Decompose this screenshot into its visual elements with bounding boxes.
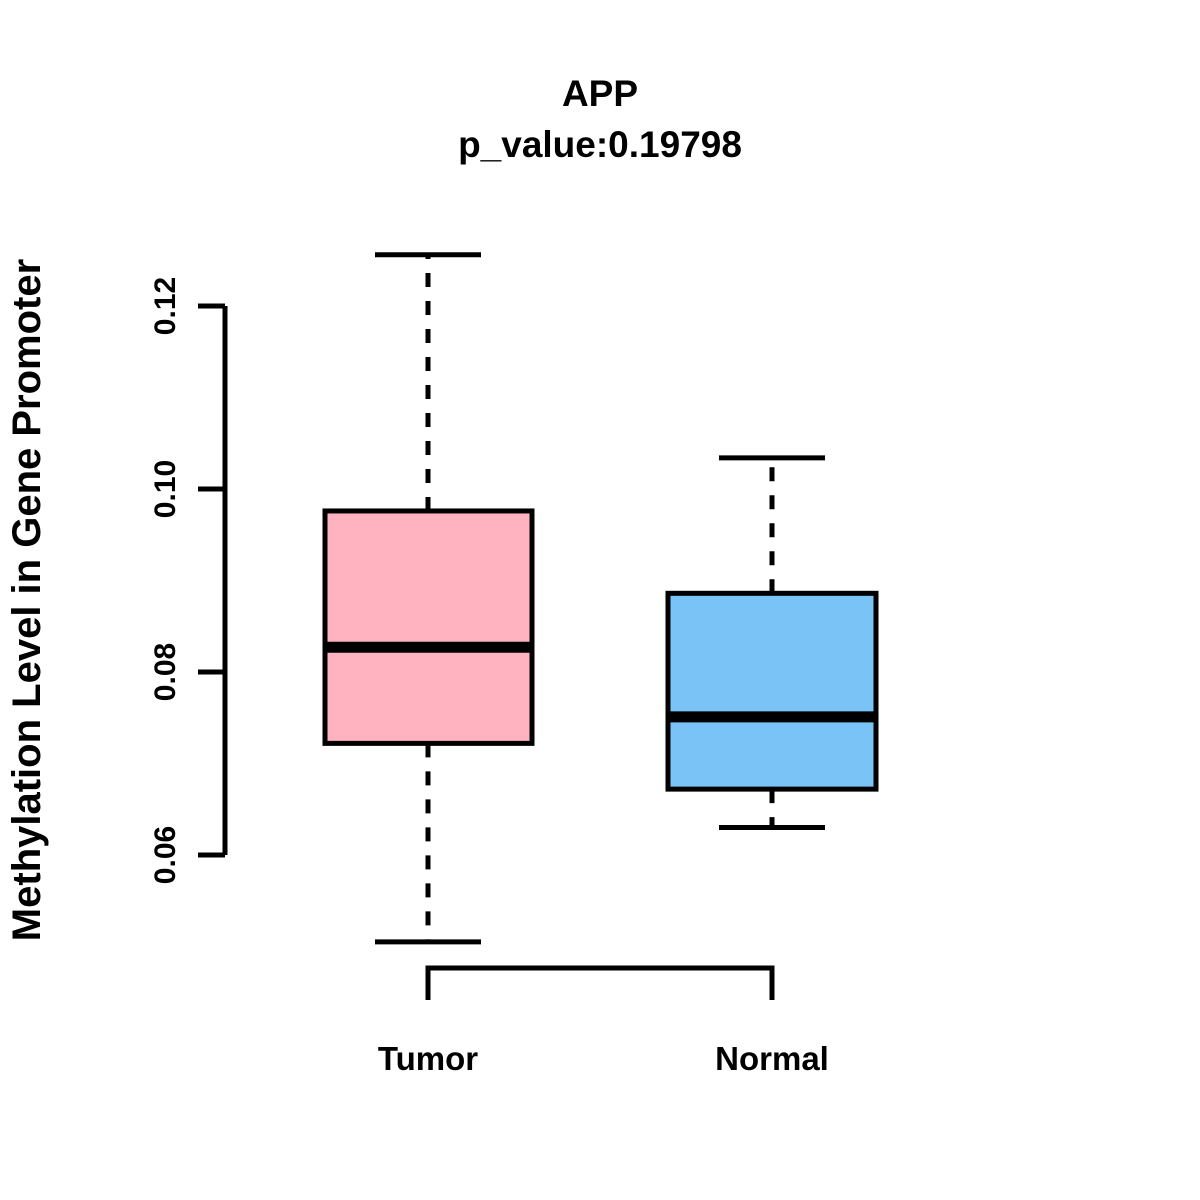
y-tick-label-0: 0.06	[149, 826, 182, 884]
x-tick-label-tumor: Tumor	[378, 1040, 478, 1077]
x-tick-label-normal: Normal	[715, 1040, 829, 1077]
y-axis-title: Methylation Level in Gene Promoter	[5, 259, 49, 941]
y-tick-label-2: 0.10	[149, 460, 182, 518]
p-value-subtitle: p_value:0.19798	[458, 124, 742, 165]
page-title: APP	[562, 73, 638, 114]
y-tick-label-3: 0.12	[149, 277, 182, 335]
boxplot-canvas: APP p_value:0.19798 Methylation Level in…	[0, 0, 1200, 1200]
boxplot-figure: APP p_value:0.19798 Methylation Level in…	[0, 0, 1200, 1200]
y-tick-label-1: 0.08	[149, 643, 182, 701]
box-tumor	[325, 511, 532, 743]
plot-background	[0, 0, 1200, 1200]
box-normal	[668, 593, 876, 789]
